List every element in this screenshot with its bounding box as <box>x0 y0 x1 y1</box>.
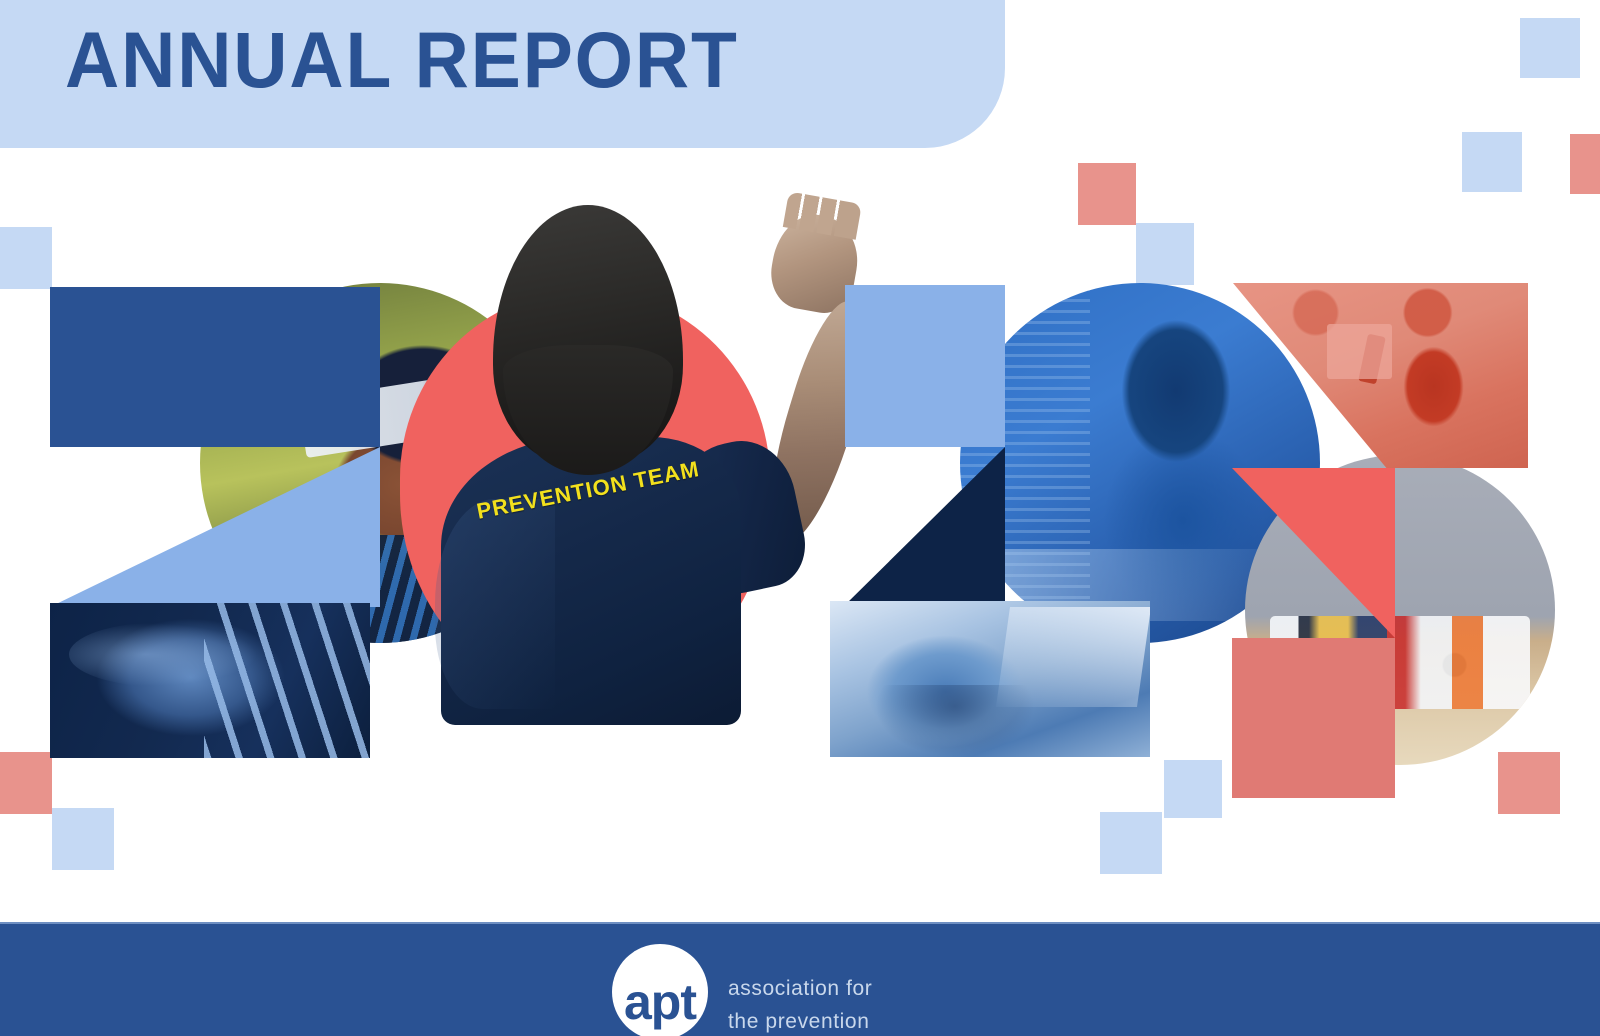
square-top-right-a <box>1520 18 1580 78</box>
logo-tagline-line-1: association for <box>728 977 872 1001</box>
annual-report-banner: ANNUAL REPORT <box>0 0 1005 148</box>
square-bottom-mid-a <box>1164 760 1222 818</box>
footer-bar: apt association for the prevention <box>0 922 1600 1036</box>
photo-prevention-team-person: PREVENTION TEAM <box>433 205 781 725</box>
logo-tagline-line-2: the prevention <box>728 1010 872 1034</box>
square-left-lower-blue <box>52 808 114 870</box>
digit2b-top-square <box>845 285 1005 447</box>
square-top-left <box>0 227 52 289</box>
square-left-salmon <box>0 752 52 814</box>
logo-circle-icon: apt <box>612 944 708 1036</box>
digit3-salmon-square <box>1232 638 1395 798</box>
apt-logo[interactable]: apt association for the prevention <box>612 944 872 1036</box>
report-cover: PREVENTION TEAM ANNUAL REPORT <box>0 0 1600 1036</box>
person-hair <box>493 205 683 465</box>
photo-desk-lightblue-bar <box>830 601 1150 757</box>
page-title: ANNUAL REPORT <box>65 14 739 106</box>
digit2b-diagonal <box>845 447 1005 605</box>
logo-tagline: association for the prevention <box>728 977 872 1034</box>
digit2a-top-bar <box>50 287 380 447</box>
square-mid-salmon <box>1078 163 1136 225</box>
photo-hands-navy-bar <box>50 603 370 758</box>
square-bottom-mid-b <box>1100 812 1162 874</box>
logo-wordmark: apt <box>624 977 696 1027</box>
square-mid-blue <box>1136 223 1194 285</box>
square-top-right-c <box>1570 134 1600 194</box>
square-top-right-b <box>1462 132 1522 192</box>
